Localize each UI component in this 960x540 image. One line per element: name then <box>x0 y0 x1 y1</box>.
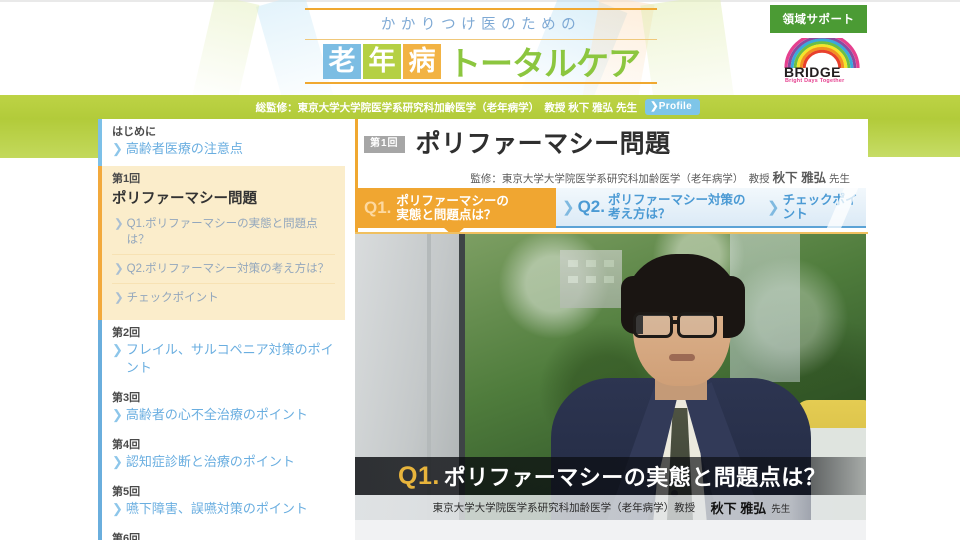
speaker-mouth <box>669 354 695 361</box>
video-footer-strip <box>355 520 868 540</box>
sidebar-item-kicker: 第2回 <box>112 326 335 341</box>
sidebar-intro-kicker: はじめに <box>112 125 335 140</box>
accent-bar <box>98 119 102 166</box>
site-header: かかりつけ医のための 老 年 病 トータルケア 領域サポート <box>0 0 960 95</box>
accent-bar <box>98 432 102 479</box>
sidebar-item-link[interactable]: ❯ 嚥下障害、誤嚥対策のポイント <box>112 500 335 518</box>
accent-bar <box>98 526 102 540</box>
chevron-right-icon: ❯ <box>112 341 123 359</box>
supervisor-credit: 総監修：東京大学大学院医学系研究科加齢医学（老年病学） 教授 秋下 雅弘 先生 … <box>0 95 700 119</box>
logo-kanji-1: 老 <box>323 44 361 79</box>
sidebar-intro-label: 高齢者医療の注意点 <box>126 140 243 158</box>
logo-subtitle: かかりつけ医のための <box>305 12 657 38</box>
video-caption-text: ポリファーマシーの実態と問題点は？ <box>444 460 827 492</box>
accent-bar <box>98 479 102 526</box>
sidebar-item-kicker: 第6回 <box>112 532 335 540</box>
chevron-right-icon: ❯ <box>114 216 124 248</box>
logo-wordmark: 老 年 病 トータルケア <box>323 41 640 81</box>
speaker-glasses-bridge <box>672 320 680 324</box>
sidebar-item-label: 認知症診断と治療のポイント <box>126 453 295 471</box>
sidebar-item-lesson-4[interactable]: 第4回 ❯ 認知症診断と治療のポイント <box>98 432 345 479</box>
sidebar-active-title: ポリファーマシー問題 <box>112 188 335 210</box>
chevron-right-icon: ❯ <box>112 140 123 158</box>
question-tabs: Q1. ポリファーマシーの 実態と問題点は？ ❯ Q2. ポリファーマシー対策の… <box>355 188 868 232</box>
sidebar-item-kicker: 第5回 <box>112 485 335 500</box>
content-supervisor-credit: 監修：東京大学大学院医学系研究科加齢医学（老年病学） 教授 秋下 雅弘 先生 <box>355 167 860 186</box>
sidebar-item-label: 嚥下障害、誤嚥対策のポイント <box>126 500 308 518</box>
decorative-ray <box>191 0 260 95</box>
sidebar-item-lesson-3[interactable]: 第3回 ❯ 高齢者の心不全治療のポイント <box>98 385 345 432</box>
main-content: 第1回 ポリファーマシー問題 監修：東京大学大学院医学系研究科加齢医学（老年病学… <box>355 119 868 540</box>
sponsor-logo[interactable]: BRIDGE Bright Days Together <box>782 38 862 86</box>
logo-rule-bottom <box>305 82 657 84</box>
chevron-right-icon: ❯ <box>650 101 659 112</box>
sidebar-subitem-q2[interactable]: ❯ Q2.ポリファーマシー対策の考え方は？ <box>112 255 335 284</box>
chevron-right-icon: ❯ <box>112 500 123 518</box>
logo-rule-top <box>305 8 657 10</box>
sidebar-item-lesson-6[interactable]: 第6回 ❯ 高齢者の栄養管理のポイント <box>98 526 345 540</box>
sidebar-item-lesson-2[interactable]: 第2回 ❯ フレイル、サルコペニア対策のポイント <box>98 320 345 385</box>
sidebar-item-lesson-5[interactable]: 第5回 ❯ 嚥下障害、誤嚥対策のポイント <box>98 479 345 526</box>
green-band-left <box>0 119 98 158</box>
logo-kanji-3: 病 <box>403 44 441 79</box>
tab-q2[interactable]: ❯ Q2. ポリファーマシー対策の 考え方は？ <box>556 188 761 228</box>
page-title: ポリファーマシー問題 <box>416 132 671 157</box>
speaker-hair-right <box>723 276 745 338</box>
tab-q1-line1: ポリファーマシーの <box>396 194 509 208</box>
tab-q1-line2: 実態と問題点は？ <box>396 208 496 222</box>
chevron-right-icon: ❯ <box>562 198 575 216</box>
sidebar-item-link[interactable]: ❯ 認知症診断と治療のポイント <box>112 453 335 471</box>
sidebar-active-kicker: 第1回 <box>112 172 335 187</box>
sidebar-item-kicker: 第4回 <box>112 438 335 453</box>
credit-prefix: 監修：東京大学大学院医学系研究科加齢医学（老年病学） 教授 <box>470 173 772 185</box>
credit-name: 秋下 雅弘 <box>773 171 826 185</box>
tab-q2-line1: ポリファーマシー対策の <box>608 193 746 207</box>
chevron-right-icon: ❯ <box>114 290 124 306</box>
sidebar-item-lesson-1-active[interactable]: 第1回 ポリファーマシー問題 ❯ Q1.ポリファーマシーの実態と問題点は？ ❯ … <box>98 166 345 320</box>
sidebar-item-intro[interactable]: はじめに ❯ 高齢者医療の注意点 <box>98 119 345 166</box>
chevron-right-icon: ❯ <box>114 261 124 277</box>
profile-button[interactable]: ❯Profile <box>645 99 700 115</box>
sidebar-intro-link[interactable]: ❯ 高齢者医療の注意点 <box>112 140 335 158</box>
video-caption-credit: 東京大学大学院医学系研究科加齢医学（老年病学）教授 秋下 雅弘 先生 <box>355 495 868 520</box>
accent-bar <box>98 320 102 385</box>
sidebar-item-link[interactable]: ❯ フレイル、サルコペニア対策のポイント <box>112 341 335 377</box>
tab-q1-number: Q1. <box>364 198 391 218</box>
sidebar-subitem-label: Q2.ポリファーマシー対策の考え方は？ <box>127 261 330 277</box>
tab-q2-label: ポリファーマシー対策の 考え方は？ <box>608 193 746 222</box>
issue-badge: 第1回 <box>364 136 405 153</box>
video-credit-suffix: 先生 <box>771 501 790 515</box>
video-caption-q: Q1. <box>398 462 440 491</box>
sponsor-tagline: Bright Days Together <box>785 78 844 84</box>
left-gutter <box>0 158 98 540</box>
sidebar-subitem-q1[interactable]: ❯ Q1.ポリファーマシーの実態と問題点は？ <box>112 210 335 255</box>
sidebar-subitem-checkpoint[interactable]: ❯ チェックポイント <box>112 284 335 312</box>
tab-q1-label: ポリファーマシーの 実態と問題点は？ <box>396 194 509 223</box>
green-band-right <box>868 119 960 157</box>
sidebar-item-kicker: 第3回 <box>112 391 335 406</box>
sidebar-item-link[interactable]: ❯ 高齢者の心不全治療のポイント <box>112 406 335 424</box>
video-top-rule <box>355 232 868 234</box>
sidebar-item-label: フレイル、サルコペニア対策のポイント <box>126 341 335 377</box>
course-sidebar: はじめに ❯ 高齢者医療の注意点 第1回 ポリファーマシー問題 ❯ Q1.ポリフ… <box>98 119 345 540</box>
area-support-button[interactable]: 領域サポート <box>770 5 867 33</box>
logo-kanji-2: 年 <box>363 44 401 79</box>
video-credit-name: 秋下 雅弘 <box>711 498 767 517</box>
video-player[interactable]: Q1. ポリファーマシーの実態と問題点は？ 東京大学大学院医学系研究科加齢医学（… <box>355 232 868 520</box>
accent-bar <box>98 166 102 320</box>
tab-q2-number: Q2. <box>578 197 605 217</box>
video-caption-title: Q1. ポリファーマシーの実態と問題点は？ <box>355 457 868 495</box>
speaker-glasses-left <box>633 312 673 338</box>
page-title-row: 第1回 ポリファーマシー問題 <box>364 132 671 157</box>
content-right-edge <box>866 119 868 540</box>
profile-button-label: Profile <box>659 101 692 112</box>
header-top-rule <box>0 0 960 2</box>
tab-q2-line2: 考え方は？ <box>608 207 671 221</box>
tab-q1[interactable]: Q1. ポリファーマシーの 実態と問題点は？ <box>355 188 556 228</box>
chevron-right-icon: ❯ <box>112 406 123 424</box>
video-credit-prefix: 東京大学大学院医学系研究科加齢医学（老年病学）教授 <box>433 500 706 515</box>
right-gutter <box>868 157 960 540</box>
sidebar-item-label: 高齢者の心不全治療のポイント <box>126 406 308 424</box>
speaker-glasses-right <box>677 312 717 338</box>
page-root: かかりつけ医のための 老 年 病 トータルケア 領域サポート <box>0 0 960 540</box>
supervisor-text: 総監修：東京大学大学院医学系研究科加齢医学（老年病学） 教授 秋下 雅弘 先生 <box>256 100 638 115</box>
chevron-right-icon: ❯ <box>767 198 780 216</box>
sidebar-subitem-label: チェックポイント <box>127 290 219 306</box>
chevron-right-icon: ❯ <box>112 453 123 471</box>
sidebar-subitem-label: Q1.ポリファーマシーの実態と問題点は？ <box>127 216 335 248</box>
accent-bar <box>98 385 102 432</box>
tab-checkpoint[interactable]: ❯ チェックポイント <box>761 188 868 228</box>
credit-suffix: 先生 <box>826 173 850 185</box>
logo-katakana: トータルケア <box>448 37 640 85</box>
site-logo[interactable]: かかりつけ医のための 老 年 病 トータルケア <box>305 8 657 84</box>
